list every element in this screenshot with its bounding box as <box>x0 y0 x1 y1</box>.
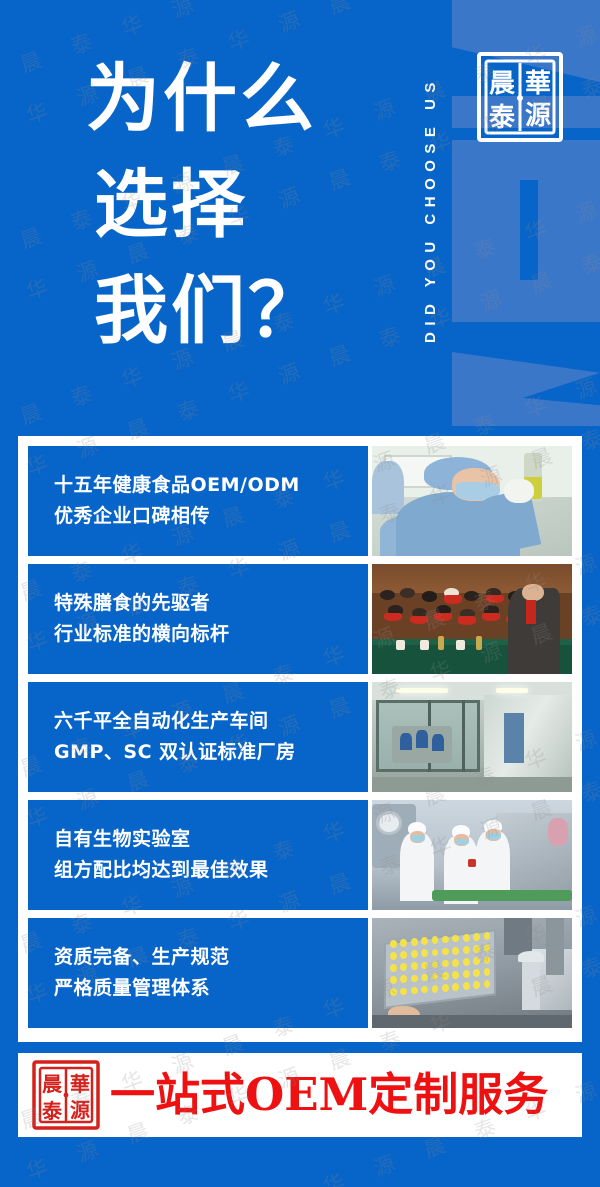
tablet-dot <box>442 936 449 944</box>
feature-card[interactable]: 自有生物实验室 组方配比均达到最佳效果 <box>28 800 572 910</box>
card-line-2: 行业标准的横向标杆 <box>54 619 368 650</box>
footer-headline: 一站式OEM定制服务 <box>110 1070 548 1120</box>
card-line-1: 十五年健康食品OEM/ODM <box>54 470 368 501</box>
tablet-dot <box>432 985 439 993</box>
tablet-dot <box>411 938 418 946</box>
tablet-dot <box>421 962 428 970</box>
tablet-dot <box>484 932 491 940</box>
title-line-3: 我们？ <box>86 258 416 364</box>
svg-text:華: 華 <box>525 69 551 99</box>
feature-card[interactable]: 资质完备、生产规范 严格质量管理体系 <box>28 918 572 1028</box>
svg-text:源: 源 <box>525 101 551 131</box>
feature-card-frame: 十五年健康食品OEM/ODM 优秀企业口碑相传 特殊膳食的先驱者 行业标准的横向… <box>18 436 582 1042</box>
tablet-dot <box>390 940 397 948</box>
tablet-dot <box>473 981 480 989</box>
card-text-block: 十五年健康食品OEM/ODM 优秀企业口碑相传 <box>28 446 368 556</box>
blister-packing-machine-photo <box>372 918 572 1028</box>
svg-text:源: 源 <box>70 1098 90 1122</box>
tablet-dot <box>400 939 407 947</box>
brand-seal-icon: 華 源 晨 泰 <box>474 48 566 146</box>
tablet-dot <box>421 937 428 945</box>
card-line-1: 资质完备、生产规范 <box>54 942 368 973</box>
title-line-1: 为什么 <box>86 46 416 152</box>
card-line-2: 组方配比均达到最佳效果 <box>54 855 368 886</box>
card-line-1: 六千平全自动化生产车间 <box>54 706 368 737</box>
svg-text:晨: 晨 <box>489 69 516 99</box>
tablet-dot <box>452 959 459 967</box>
tablet-dot <box>463 982 470 990</box>
tablet-dot <box>442 972 449 980</box>
feature-card[interactable]: 十五年健康食品OEM/ODM 优秀企业口碑相传 <box>28 446 572 556</box>
svg-text:華: 華 <box>70 1072 90 1096</box>
tablet-dot <box>452 971 459 979</box>
card-text-block: 资质完备、生产规范 严格质量管理体系 <box>28 918 368 1028</box>
lab-technician-photo <box>372 446 572 556</box>
card-line-2: 优秀企业口碑相传 <box>54 501 368 532</box>
tablet-dot <box>463 958 470 966</box>
feature-card[interactable]: 六千平全自动化生产车间 GMP、SC 双认证标准厂房 <box>28 682 572 792</box>
brand-seal-red-icon: 華 源 晨 泰 <box>30 1057 102 1133</box>
packaging-line-workers-photo <box>372 800 572 910</box>
clean-room-corridor-photo <box>372 682 572 792</box>
tablet-dot <box>411 950 418 958</box>
tablet-dot <box>442 948 449 956</box>
tablet-dot <box>442 984 449 992</box>
page-title: 为什么 选择 我们？ <box>86 46 416 364</box>
feature-card[interactable]: 特殊膳食的先驱者 行业标准的横向标杆 <box>28 564 572 674</box>
tablet-dot <box>463 934 470 942</box>
card-line-2: 严格质量管理体系 <box>54 973 368 1004</box>
tablet-dot <box>463 946 470 954</box>
vertical-tagline: DID YOU CHOOSE US <box>405 20 439 400</box>
tablet-dot <box>390 964 397 972</box>
conference-audience-photo <box>372 564 572 674</box>
tablet-dot <box>390 976 397 984</box>
tablet-dot <box>411 962 418 970</box>
tablet-dot <box>390 988 397 996</box>
svg-text:泰: 泰 <box>41 1099 63 1123</box>
tablet-dot <box>452 947 459 955</box>
tablet-dot <box>390 952 397 960</box>
tablet-dot <box>473 969 480 977</box>
card-text-block: 特殊膳食的先驱者 行业标准的横向标杆 <box>28 564 368 674</box>
poster-root: 为什么 选择 我们？ DID YOU CHOOSE US 華 源 晨 泰 <box>0 0 600 1187</box>
card-line-2: GMP、SC 双认证标准厂房 <box>54 737 368 768</box>
svg-text:泰: 泰 <box>489 103 516 133</box>
tablet-dot <box>473 945 480 953</box>
card-text-block: 自有生物实验室 组方配比均达到最佳效果 <box>28 800 368 910</box>
tablet-dot <box>411 975 418 983</box>
tablet-dot <box>452 983 459 991</box>
tablet-dot <box>473 933 480 941</box>
poster-header: 为什么 选择 我们？ DID YOU CHOOSE US 華 源 晨 泰 <box>0 0 600 430</box>
card-line-1: 特殊膳食的先驱者 <box>54 588 368 619</box>
card-text-block: 六千平全自动化生产车间 GMP、SC 双认证标准厂房 <box>28 682 368 792</box>
svg-text:晨: 晨 <box>42 1072 63 1096</box>
tablet-dot <box>411 987 418 995</box>
tablet-dot <box>463 970 470 978</box>
footer-banner[interactable]: 華 源 晨 泰 一站式OEM定制服务 <box>18 1053 582 1137</box>
tablet-dot <box>473 957 480 965</box>
card-line-1: 自有生物实验室 <box>54 824 368 855</box>
title-line-2: 选择 <box>86 152 416 258</box>
